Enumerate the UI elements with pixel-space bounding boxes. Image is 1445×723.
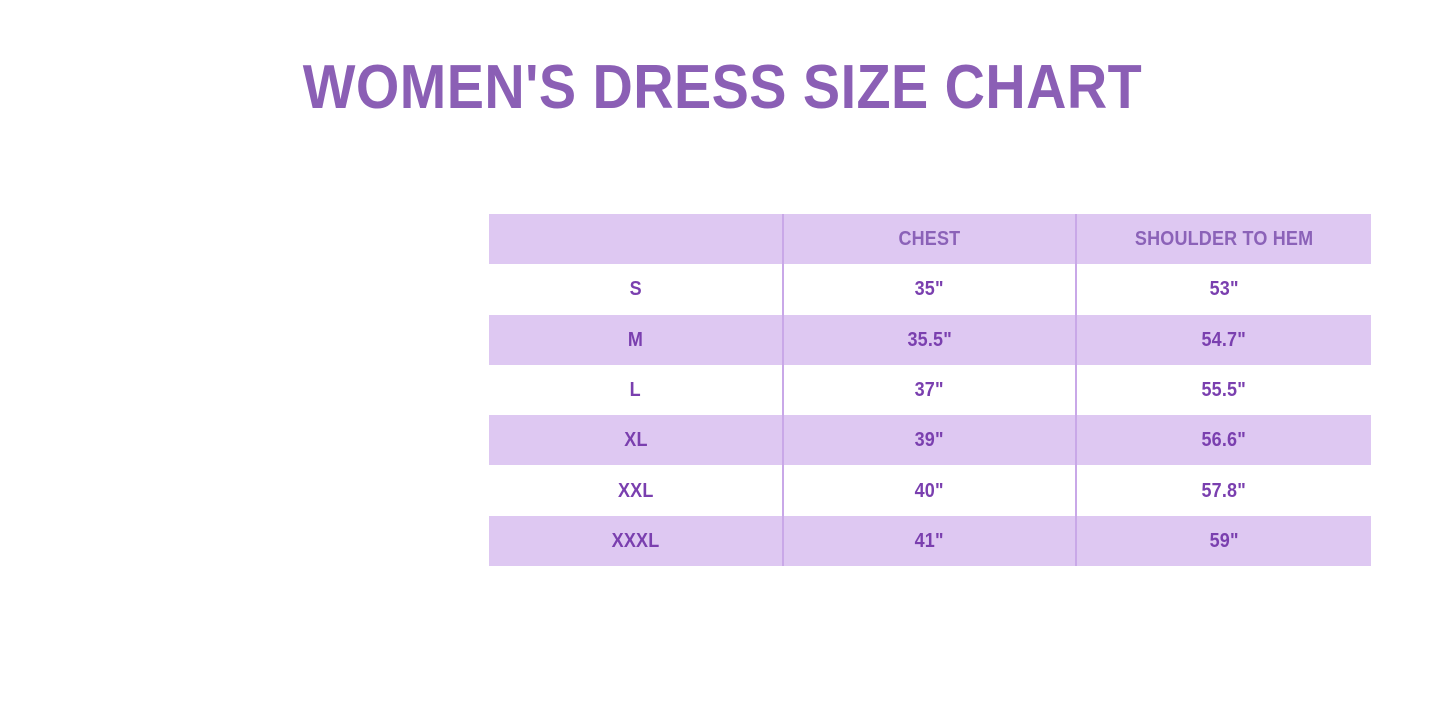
cell-size: XXL — [489, 465, 783, 515]
size-label: L — [630, 379, 641, 401]
table-header-row: CHEST SHOULDER TO HEM — [489, 214, 1371, 264]
table-row: XXL 40" 57.8" — [489, 465, 1371, 515]
page-title: WOMEN'S DRESS SIZE CHART — [72, 52, 1373, 124]
size-chart-table: CHEST SHOULDER TO HEM S 35" 53" — [489, 214, 1371, 566]
table-row: S 35" 53" — [489, 264, 1371, 314]
size-label: XXXL — [612, 530, 660, 552]
cell-chest: 40" — [783, 465, 1076, 515]
column-header-chest: CHEST — [783, 214, 1076, 264]
column-header-size — [489, 214, 783, 264]
chest-value: 39" — [915, 429, 944, 451]
shoulder-to-hem-value: 53" — [1209, 278, 1238, 300]
size-label: XL — [624, 429, 647, 451]
cell-size: L — [489, 365, 783, 415]
chest-value: 35" — [915, 278, 944, 300]
table-header: CHEST SHOULDER TO HEM — [489, 214, 1371, 264]
chest-value: 40" — [915, 480, 944, 502]
shoulder-to-hem-value: 54.7" — [1202, 329, 1246, 351]
chest-value: 41" — [915, 530, 944, 552]
shoulder-to-hem-value: 55.5" — [1202, 379, 1246, 401]
cell-size: S — [489, 264, 783, 314]
cell-chest: 39" — [783, 415, 1076, 465]
cell-shoulder-to-hem: 56.6" — [1076, 415, 1371, 465]
cell-shoulder-to-hem: 53" — [1076, 264, 1371, 314]
table-row: XL 39" 56.6" — [489, 415, 1371, 465]
size-label: XXL — [618, 480, 654, 502]
size-label: M — [628, 329, 643, 351]
cell-chest: 35.5" — [783, 315, 1076, 365]
column-header-shoulder-to-hem-label: SHOULDER TO HEM — [1135, 228, 1313, 250]
chest-value: 35.5" — [907, 329, 951, 351]
cell-shoulder-to-hem: 55.5" — [1076, 365, 1371, 415]
table-row: XXXL 41" 59" — [489, 516, 1371, 566]
cell-size: XL — [489, 415, 783, 465]
table-row: M 35.5" 54.7" — [489, 315, 1371, 365]
shoulder-to-hem-value: 57.8" — [1202, 480, 1246, 502]
cell-chest: 37" — [783, 365, 1076, 415]
size-label: S — [629, 278, 641, 300]
cell-size: XXXL — [489, 516, 783, 566]
table-body: S 35" 53" M 35.5" 54.7" — [489, 264, 1371, 566]
shoulder-to-hem-value: 56.6" — [1202, 429, 1246, 451]
cell-size: M — [489, 315, 783, 365]
cell-chest: 41" — [783, 516, 1076, 566]
shoulder-to-hem-value: 59" — [1209, 530, 1238, 552]
column-header-chest-label: CHEST — [899, 228, 961, 250]
cell-chest: 35" — [783, 264, 1076, 314]
cell-shoulder-to-hem: 59" — [1076, 516, 1371, 566]
size-chart-table-container: CHEST SHOULDER TO HEM S 35" 53" — [489, 214, 1371, 566]
cell-shoulder-to-hem: 54.7" — [1076, 315, 1371, 365]
table-row: L 37" 55.5" — [489, 365, 1371, 415]
chest-value: 37" — [915, 379, 944, 401]
cell-shoulder-to-hem: 57.8" — [1076, 465, 1371, 515]
column-header-shoulder-to-hem: SHOULDER TO HEM — [1076, 214, 1371, 264]
